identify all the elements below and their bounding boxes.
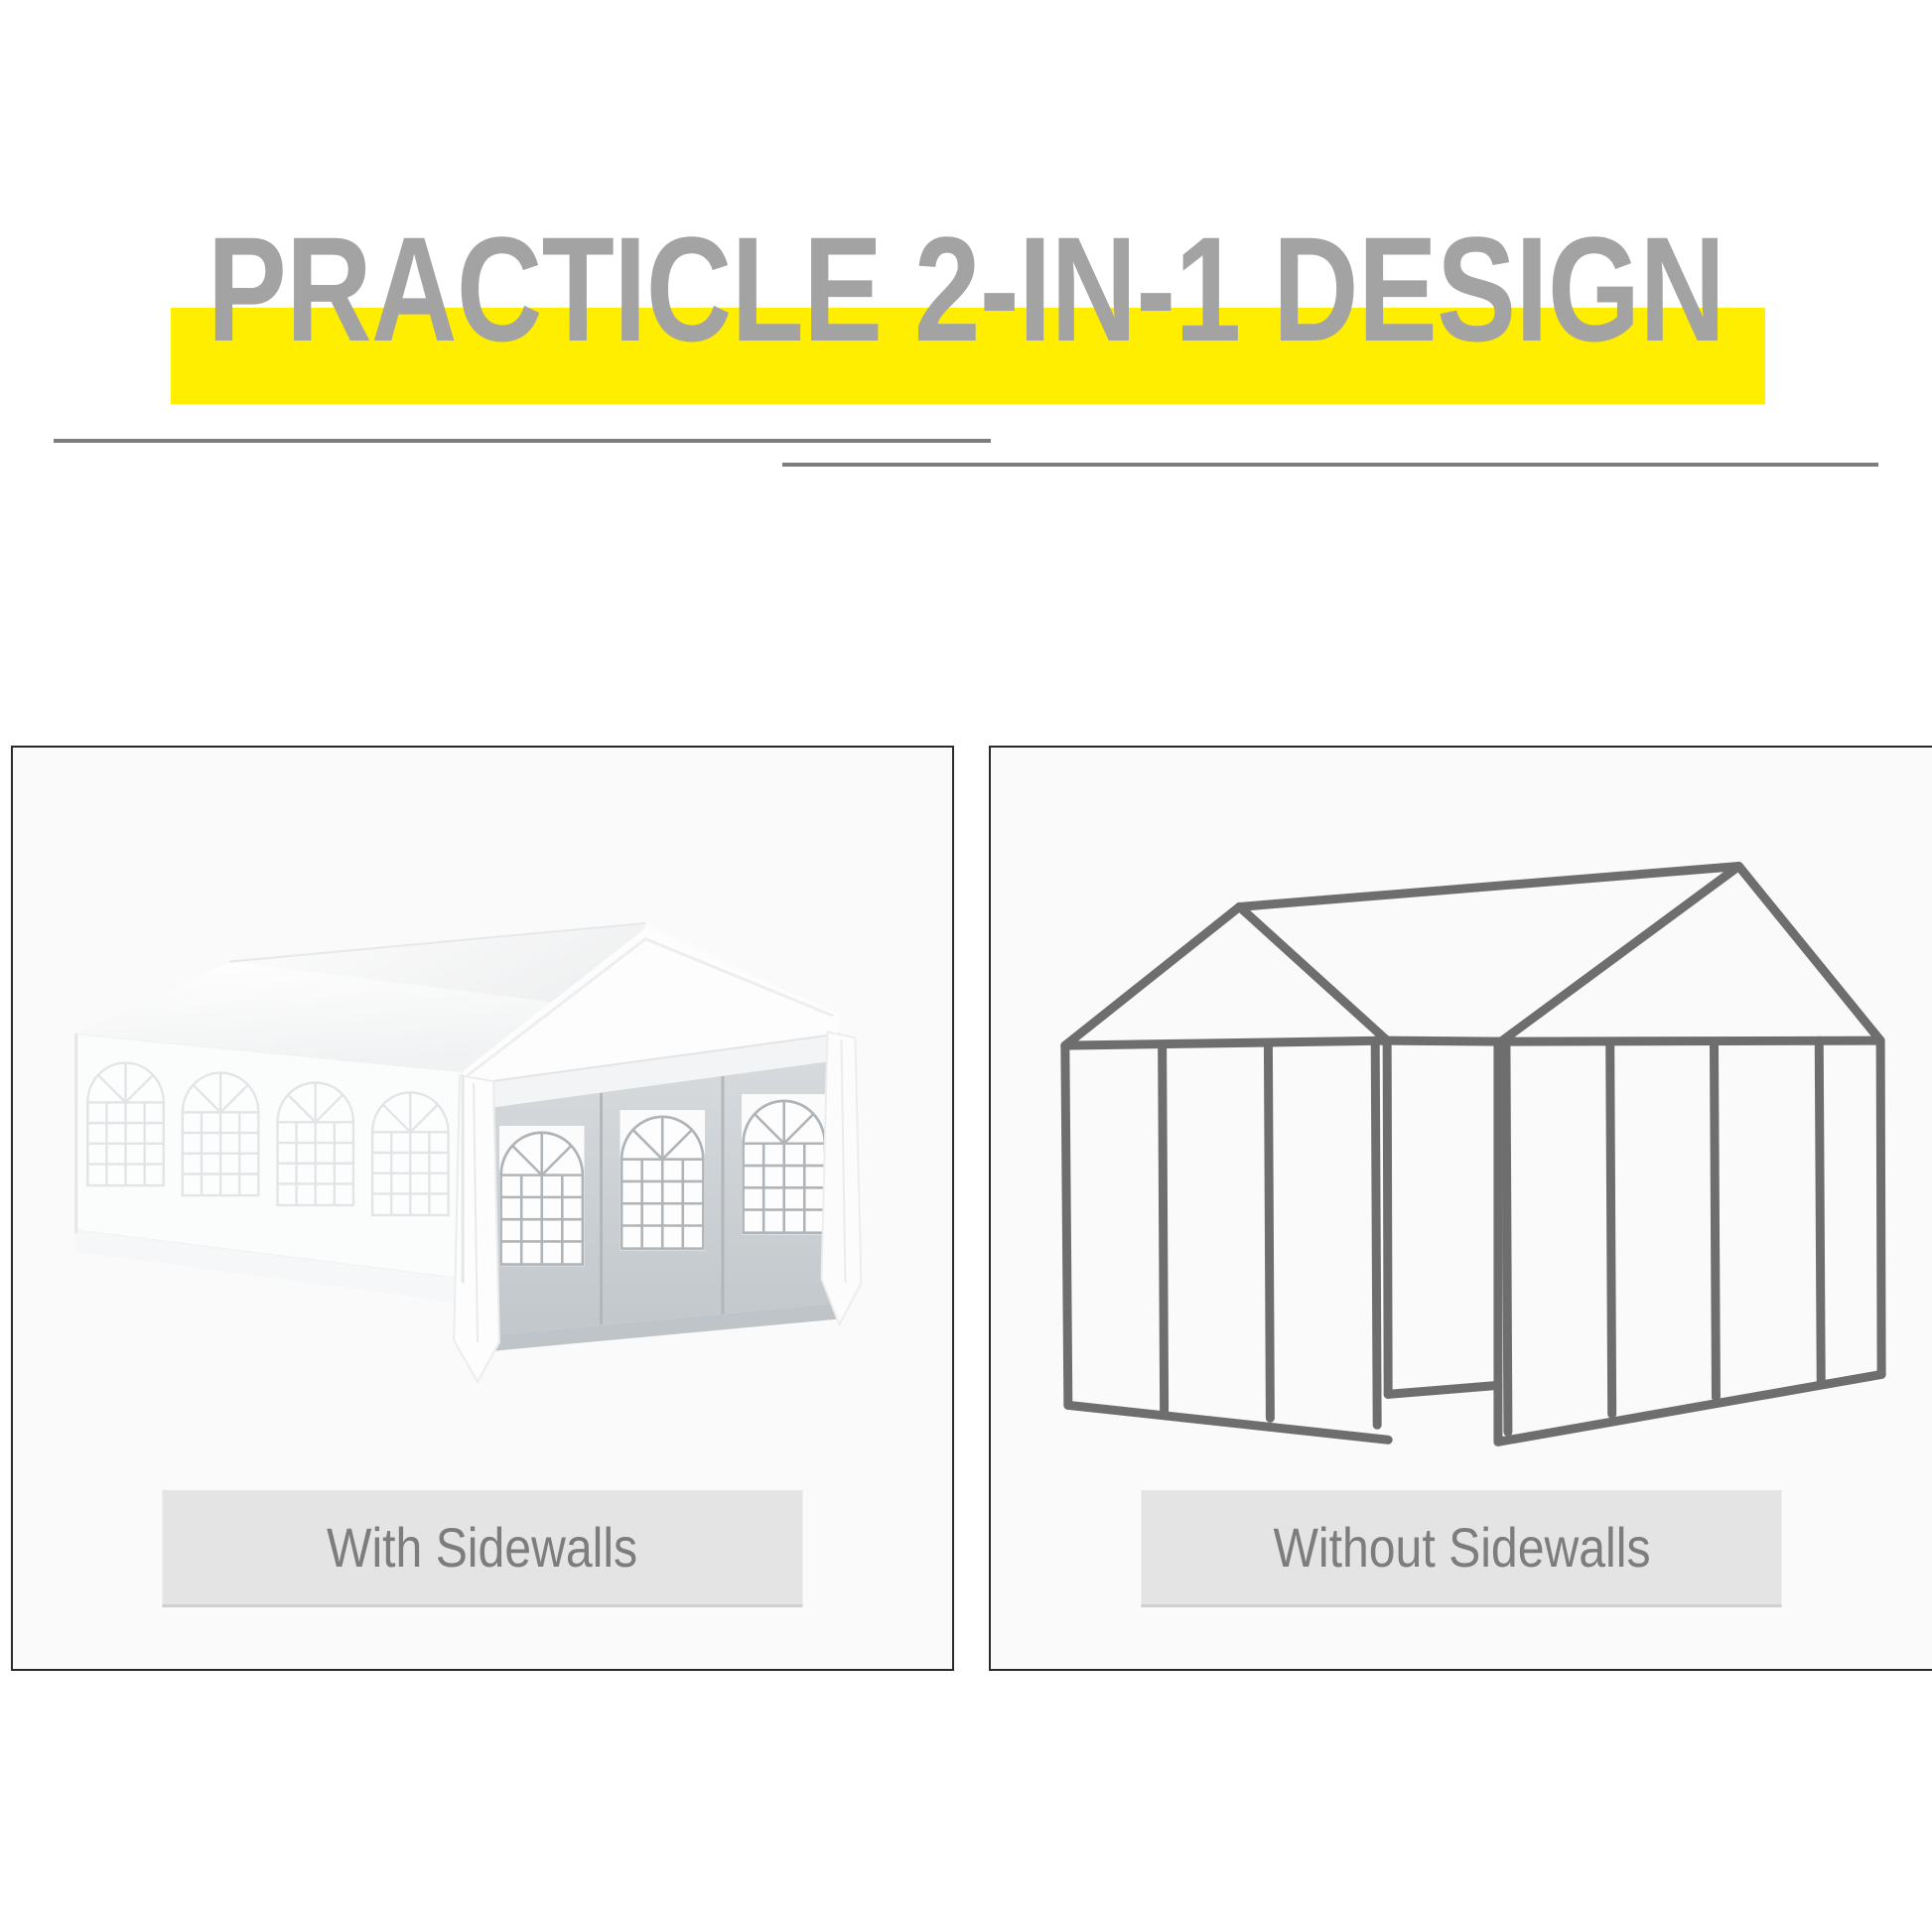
frame-centre-opening: [1387, 1041, 1498, 1442]
divider-line-lower: [782, 463, 1878, 467]
frame-roof: [1065, 867, 1880, 1046]
comparison-panels: With Sidewalls: [0, 746, 1932, 1673]
tent-left-sidewall: [74, 1034, 463, 1303]
frame-eaves: [1065, 1040, 1880, 1045]
tent-frame-diagram: [991, 748, 1932, 1462]
tent-front-sidewall-panels: [482, 1059, 843, 1352]
divider-line-upper: [54, 439, 991, 443]
frame-uprights-right: [1506, 1040, 1881, 1432]
caption-label: With Sidewalls: [327, 1518, 637, 1578]
panel-without-sidewalls[interactable]: Without Sidewalls: [989, 746, 1932, 1671]
panel-with-sidewalls[interactable]: With Sidewalls: [11, 746, 954, 1671]
caption-box-without-sidewalls: Without Sidewalls: [1142, 1490, 1782, 1607]
frame-uprights-left: [1065, 1040, 1377, 1425]
header: PRACTICLE 2-IN-1 DESIGN: [0, 0, 1932, 496]
promo-infographic-page: PRACTICLE 2-IN-1 DESIGN: [0, 0, 1932, 1932]
tent-with-sidewalls-image: [13, 748, 952, 1462]
caption-box-with-sidewalls: With Sidewalls: [163, 1490, 803, 1607]
caption-label: Without Sidewalls: [1273, 1518, 1650, 1578]
page-title: PRACTICLE 2-IN-1 DESIGN: [194, 195, 1739, 383]
